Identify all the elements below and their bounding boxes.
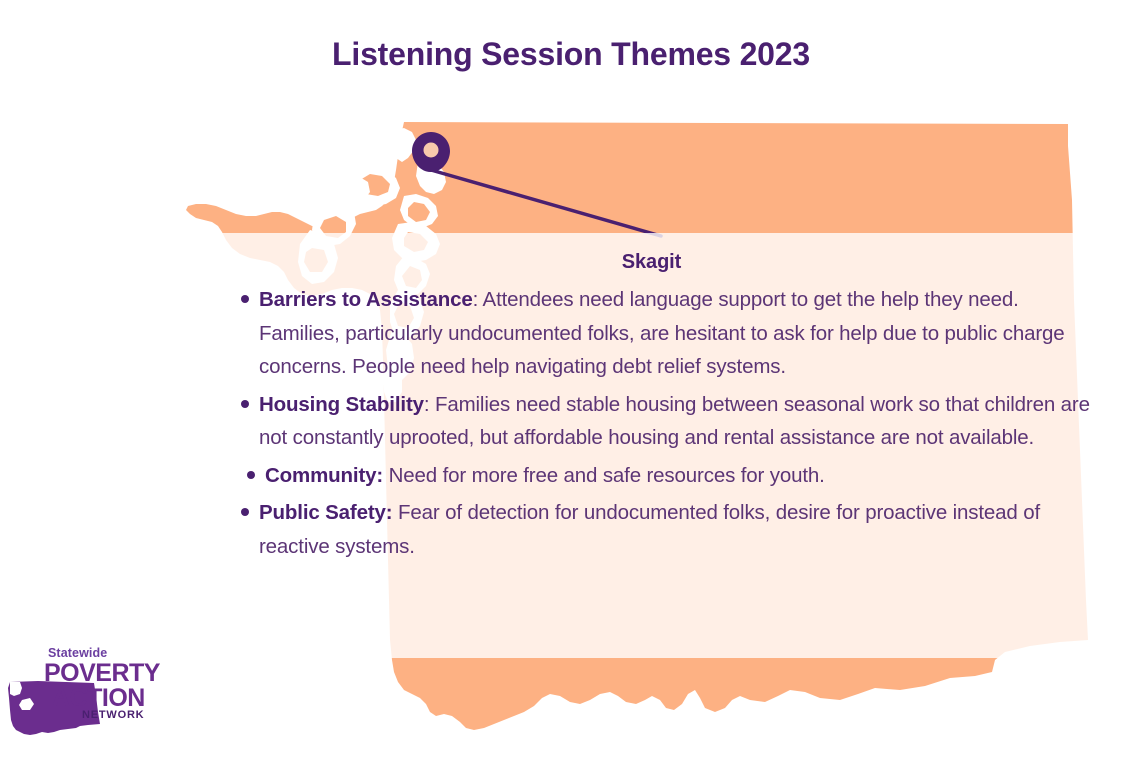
poster-canvas: Listening Session Themes 2023 Skagit Bar… [0,0,1142,768]
logo-text-statewide: Statewide [48,646,107,660]
map-pin-icon [412,132,450,172]
theme-description: Need for more free and safe resources fo… [383,464,825,487]
county-heading: Skagit [207,251,1096,274]
bullet-icon [241,508,249,516]
bullet-icon [241,295,249,303]
themes-list: Barriers to Assistance: Attendees need l… [207,283,1096,563]
theme-item: Barriers to Assistance: Attendees need l… [207,283,1096,384]
logo-text-network: NETWORK [82,709,144,721]
theme-body: Public Safety: Fear of detection for und… [259,496,1096,563]
themes-panel: Skagit Barriers to Assistance: Attendees… [185,233,1118,658]
theme-label: Housing Stability [259,393,424,416]
theme-label: Barriers to Assistance [259,288,473,311]
theme-item: Housing Stability: Families need stable … [207,388,1096,455]
bullet-icon [247,471,255,479]
organization-logo: Statewide POVERTY ACTION NETWORK [8,638,140,740]
bullet-icon [241,400,249,408]
theme-body: Housing Stability: Families need stable … [259,388,1096,455]
theme-label: Community: [265,464,383,487]
theme-body: Community: Need for more free and safe r… [265,459,825,493]
leader-line [431,170,661,236]
theme-body: Barriers to Assistance: Attendees need l… [259,283,1096,384]
theme-item: Community: Need for more free and safe r… [207,459,1096,493]
theme-item: Public Safety: Fear of detection for und… [207,496,1096,563]
theme-label: Public Safety: [259,501,392,524]
